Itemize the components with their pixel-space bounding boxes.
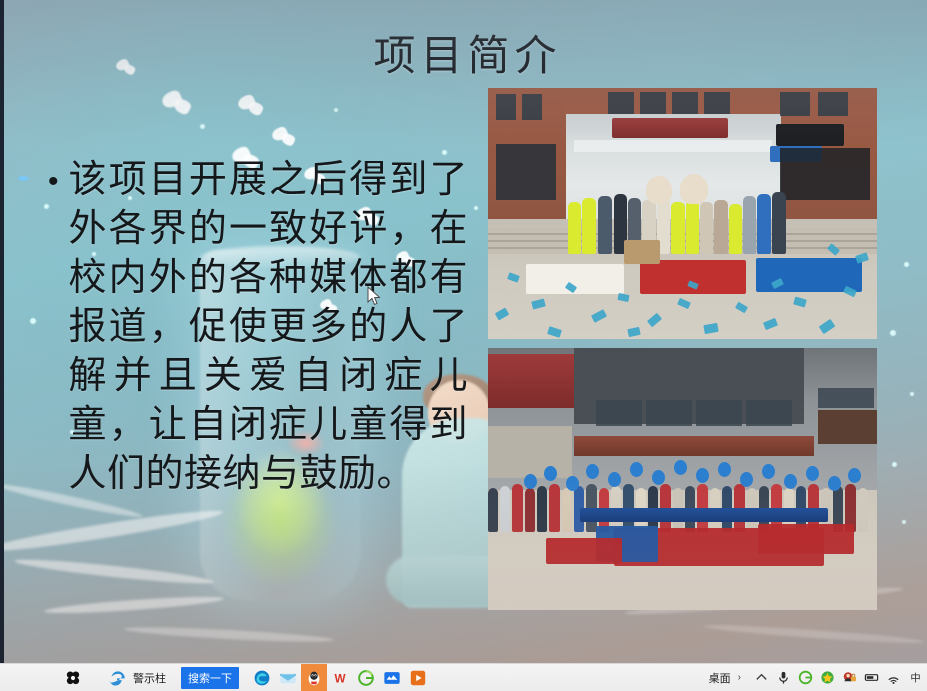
- sparkle-decoration: [902, 520, 906, 524]
- screen: 项目简介 • 该项目开展之后得到了外各界的一致好评，在校内外的各种媒体都有报道，…: [0, 0, 927, 691]
- sparkle-decoration: [890, 330, 896, 336]
- microsoft-edge-icon: [253, 669, 271, 687]
- sparkle-decoration: [910, 392, 914, 396]
- photo-person: [772, 192, 786, 254]
- input-method-icon[interactable]: 中: [908, 670, 923, 685]
- photo-person: [686, 200, 699, 254]
- system-tray: 桌面 ›: [709, 664, 927, 691]
- photo-red-sign: [612, 118, 728, 138]
- bullet-paragraph: • 该项目开展之后得到了外各界的一致好评，在校内外的各种媒体都有报道，促使更多的…: [48, 156, 468, 499]
- taskbar-item-edge[interactable]: [249, 664, 275, 691]
- photo-window: [640, 92, 666, 114]
- taskbar-item-wps[interactable]: W: [327, 664, 353, 691]
- photo-person: [757, 194, 771, 254]
- 360-browser-tray-icon[interactable]: [798, 670, 813, 685]
- photo-person: [743, 196, 756, 254]
- photo-mascot: [680, 174, 708, 204]
- sparkle-decoration: [30, 318, 36, 324]
- ribbon-decoration: [124, 625, 334, 645]
- ribbon-decoration: [704, 622, 924, 645]
- sparkle-decoration: [334, 108, 338, 112]
- taskbar-item-qq[interactable]: [301, 664, 327, 691]
- taskbar-item-mail[interactable]: [275, 664, 301, 691]
- taskbar-item-sogou[interactable]: [60, 664, 86, 691]
- powerpoint-slide[interactable]: 项目简介 • 该项目开展之后得到了外各界的一致好评，在校内外的各种媒体都有报道，…: [0, 0, 927, 663]
- sparkle-decoration: [904, 262, 909, 267]
- photo-canopy: [574, 140, 772, 152]
- photo-window: [746, 400, 792, 426]
- wps-icon: W: [331, 669, 349, 687]
- photo-people-group: [568, 180, 788, 258]
- sparkle-decoration: [474, 206, 478, 210]
- photo-person: [714, 200, 728, 254]
- 360-security-icon[interactable]: [820, 670, 835, 685]
- media-player-icon: [409, 669, 427, 687]
- svg-text:中: 中: [910, 671, 920, 684]
- photo-box: [624, 240, 660, 264]
- search-button[interactable]: 搜索一下: [181, 667, 239, 689]
- page-title: 项目简介: [4, 22, 927, 83]
- windows-taskbar[interactable]: 警示柱 搜索一下: [0, 663, 927, 691]
- photo-shop-sign: [776, 124, 844, 146]
- ribbon-decoration: [44, 594, 224, 617]
- blue-app-icon: [383, 669, 401, 687]
- photo-window: [704, 92, 730, 114]
- photo-window: [780, 148, 870, 200]
- security-guard-icon[interactable]: [842, 670, 857, 685]
- mail-icon: [279, 669, 297, 687]
- photo-person: [700, 202, 713, 254]
- photo-window: [608, 92, 634, 114]
- ribbon-decoration: [14, 556, 214, 588]
- qq-icon: [305, 669, 323, 687]
- sogou-icon: [65, 669, 81, 687]
- photo-window: [496, 94, 516, 120]
- photo-mascot: [646, 176, 672, 204]
- sparkle-decoration: [18, 176, 29, 181]
- photo-window: [672, 92, 698, 114]
- photo-red-billboard: [488, 354, 574, 408]
- photo-sign-band: [574, 436, 814, 456]
- taskbar-item-media-player[interactable]: [405, 664, 431, 691]
- show-hidden-icons-icon[interactable]: [754, 670, 769, 685]
- group-photo-school-entrance[interactable]: [488, 88, 877, 339]
- internet-explorer-icon: [109, 669, 127, 687]
- microphone-icon[interactable]: [776, 670, 791, 685]
- sparkle-decoration: [892, 462, 897, 467]
- wifi-icon[interactable]: [886, 670, 901, 685]
- overflow-chevron-icon[interactable]: ›: [738, 672, 741, 683]
- taskbar-browser-label: 警示柱: [133, 670, 166, 686]
- photo-window: [696, 400, 742, 426]
- taskbar-item-360-browser[interactable]: [353, 664, 379, 691]
- photo-window: [646, 400, 692, 426]
- photo-window: [496, 144, 556, 200]
- photo-window: [596, 400, 642, 426]
- 360-browser-icon: [357, 669, 375, 687]
- group-photo-public-square[interactable]: [488, 348, 877, 610]
- photo-person: [568, 202, 581, 254]
- sparkle-decoration: [200, 124, 205, 129]
- taskbar-left-group: 警示柱 搜索一下: [0, 664, 431, 691]
- taskbar-item-blue-app[interactable]: [379, 664, 405, 691]
- photo-window: [818, 92, 848, 116]
- body-text: 该项目开展之后得到了外各界的一致好评，在校内外的各种媒体都有报道，促使更多的人了…: [69, 156, 468, 499]
- photo-shop-sign: [818, 410, 877, 444]
- photo-event-banner: [580, 508, 828, 522]
- photo-person: [582, 198, 596, 254]
- photo-banner-red: [640, 260, 746, 294]
- photo-person: [729, 204, 742, 254]
- sparkle-decoration: [442, 150, 447, 155]
- show-desktop-button[interactable]: 桌面: [709, 670, 731, 686]
- svg-text:W: W: [334, 672, 346, 685]
- photo-wall: [488, 426, 572, 478]
- hardware-icon[interactable]: [864, 670, 879, 685]
- photo-window: [818, 388, 874, 408]
- photo-person: [598, 196, 612, 254]
- taskbar-item-browser[interactable]: 警示柱: [104, 664, 171, 691]
- photo-person: [671, 202, 685, 254]
- photo-window: [522, 94, 542, 120]
- bullet-marker: •: [48, 156, 59, 206]
- photo-window: [780, 92, 810, 116]
